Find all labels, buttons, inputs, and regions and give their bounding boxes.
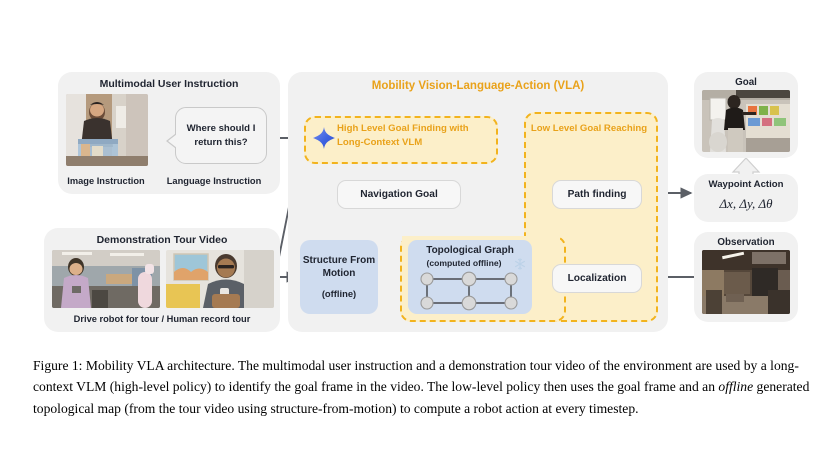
image-instruction-thumbnail: [66, 94, 148, 166]
low-level-label: Low Level Goal Reaching: [524, 122, 654, 136]
waypoint-action-math: Δx, Δy, Δθ: [694, 196, 798, 212]
localization-node[interactable]: Localization: [552, 264, 642, 293]
goal-frame-thumbnail: [702, 90, 790, 152]
speech-bubble: Where should I return this?: [175, 107, 267, 164]
vla-panel-title: Mobility Vision-Language-Action (VLA): [288, 80, 668, 92]
navigation-goal-node[interactable]: Navigation Goal: [337, 180, 461, 209]
observation-frame-thumbnail: [702, 250, 790, 314]
instruction-panel-title: Multimodal User Instruction: [58, 78, 280, 90]
high-level-label: High Level Goal Finding with Long-Contex…: [337, 122, 489, 149]
topological-graph-diagram: [414, 270, 526, 312]
image-instruction-caption: Image Instruction: [56, 176, 156, 186]
topological-graph-subtitle: (computed offline): [402, 258, 526, 268]
tour-thumbnail-drive-robot: [52, 250, 160, 308]
snowflake-icon: [514, 257, 526, 269]
goal-panel-title: Goal: [694, 77, 798, 88]
tour-panel-caption: Drive robot for tour / Human record tour: [44, 314, 280, 324]
sfm-label-offline: (offline): [322, 288, 356, 301]
waypoint-action-title: Waypoint Action: [694, 179, 798, 190]
observation-panel-title: Observation: [694, 237, 798, 248]
figure-caption: Figure 1: Mobility VLA architecture. The…: [33, 355, 811, 419]
language-instruction-caption: Language Instruction: [152, 176, 276, 186]
sfm-label-main: Structure From Motion: [300, 254, 378, 281]
topological-graph-title: Topological Graph: [408, 245, 532, 256]
tour-panel-title: Demonstration Tour Video: [44, 234, 280, 246]
gemini-sparkle-icon: [312, 126, 336, 150]
path-finding-node[interactable]: Path finding: [552, 180, 642, 209]
structure-from-motion-node[interactable]: Structure From Motion (offline): [300, 240, 378, 314]
tour-thumbnail-human-record: [166, 250, 274, 308]
